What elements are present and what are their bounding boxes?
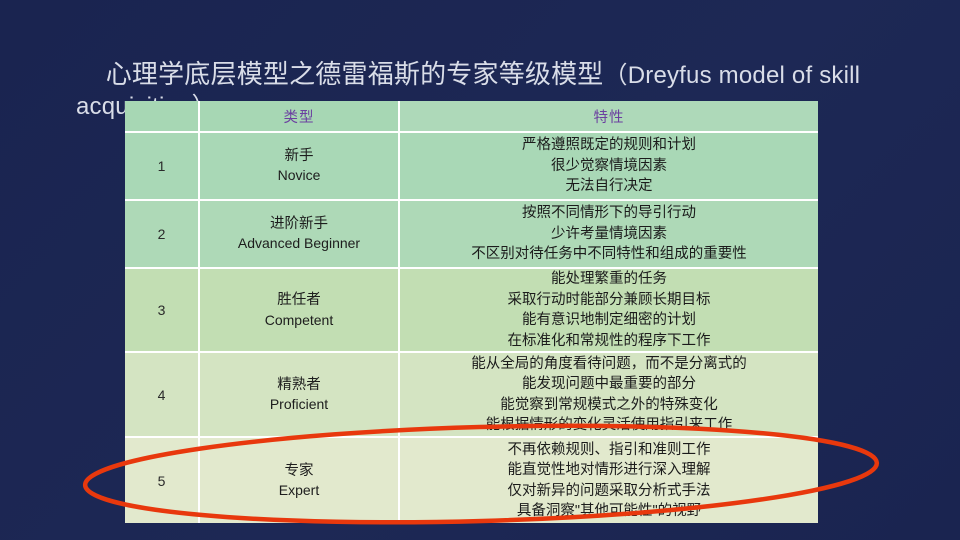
- row-index: 1: [125, 133, 200, 201]
- desc-line: 不再依赖规则、指引和准则工作: [400, 440, 818, 461]
- row-type-cn: 新手: [200, 146, 398, 167]
- row-type-en: Novice: [200, 166, 398, 186]
- row-index: 5: [125, 438, 200, 523]
- row-description: 严格遵照既定的规则和计划 很少觉察情境因素 无法自行决定: [400, 133, 818, 201]
- table-row: 5 专家 Expert 不再依赖规则、指引和准则工作 能直觉性地对情形进行深入理…: [125, 438, 818, 523]
- desc-line: 具备洞察"其他可能性"的视野: [400, 501, 818, 522]
- table-row: 3 胜任者 Competent 能处理繁重的任务 采取行动时能部分兼顾长期目标 …: [125, 269, 818, 353]
- desc-line: 严格遵照既定的规则和计划: [400, 135, 818, 156]
- row-type: 专家 Expert: [200, 438, 400, 523]
- desc-line: 能直觉性地对情形进行深入理解: [400, 460, 818, 481]
- desc-line: 仅对新异的问题采取分析式手法: [400, 481, 818, 502]
- header-cell-index: [125, 101, 200, 133]
- dreyfus-table-container: 类型 特性 1 新手 Novice 严格遵照既定的规则和计划 很少觉察情境因素 …: [125, 101, 818, 515]
- table-row: 4 精熟者 Proficient 能从全局的角度看待问题，而不是分离式的 能发现…: [125, 353, 818, 438]
- row-type-en: Proficient: [200, 395, 398, 415]
- row-type-en: Advanced Beginner: [200, 234, 398, 254]
- header-cell-type: 类型: [200, 101, 400, 133]
- row-type-cn: 专家: [200, 461, 398, 482]
- desc-line: 少许考量情境因素: [400, 224, 818, 245]
- desc-line: 不区别对待任务中不同特性和组成的重要性: [400, 244, 818, 265]
- dreyfus-table: 类型 特性 1 新手 Novice 严格遵照既定的规则和计划 很少觉察情境因素 …: [125, 101, 818, 523]
- desc-line: 能根据情形的变化灵活使用指引来工作: [400, 415, 818, 436]
- row-type: 新手 Novice: [200, 133, 400, 201]
- row-description: 能处理繁重的任务 采取行动时能部分兼顾长期目标 能有意识地制定细密的计划 在标准…: [400, 269, 818, 353]
- desc-line: 能觉察到常规模式之外的特殊变化: [400, 395, 818, 416]
- row-type-cn: 进阶新手: [200, 214, 398, 235]
- row-index: 2: [125, 201, 200, 269]
- row-description: 不再依赖规则、指引和准则工作 能直觉性地对情形进行深入理解 仅对新异的问题采取分…: [400, 438, 818, 523]
- desc-line: 能从全局的角度看待问题，而不是分离式的: [400, 354, 818, 375]
- desc-line: 在标准化和常规性的程序下工作: [400, 331, 818, 352]
- table-header-row: 类型 特性: [125, 101, 818, 133]
- desc-line: 按照不同情形下的导引行动: [400, 203, 818, 224]
- page-title-cjk: 心理学底层模型之德雷福斯的专家等级模型: [106, 59, 604, 89]
- desc-line: 能处理繁重的任务: [400, 269, 818, 290]
- desc-line: 很少觉察情境因素: [400, 156, 818, 177]
- table-row: 1 新手 Novice 严格遵照既定的规则和计划 很少觉察情境因素 无法自行决定: [125, 133, 818, 201]
- row-description: 能从全局的角度看待问题，而不是分离式的 能发现问题中最重要的部分 能觉察到常规模…: [400, 353, 818, 438]
- desc-line: 采取行动时能部分兼顾长期目标: [400, 290, 818, 311]
- row-type: 进阶新手 Advanced Beginner: [200, 201, 400, 269]
- header-cell-characteristics: 特性: [400, 101, 818, 133]
- row-type: 胜任者 Competent: [200, 269, 400, 353]
- desc-line: 无法自行决定: [400, 176, 818, 197]
- table-row: 2 进阶新手 Advanced Beginner 按照不同情形下的导引行动 少许…: [125, 201, 818, 269]
- row-type: 精熟者 Proficient: [200, 353, 400, 438]
- row-type-cn: 胜任者: [200, 290, 398, 311]
- row-index: 3: [125, 269, 200, 353]
- desc-line: 能有意识地制定细密的计划: [400, 310, 818, 331]
- row-description: 按照不同情形下的导引行动 少许考量情境因素 不区别对待任务中不同特性和组成的重要…: [400, 201, 818, 269]
- row-type-en: Expert: [200, 481, 398, 501]
- desc-line: 能发现问题中最重要的部分: [400, 374, 818, 395]
- row-type-cn: 精熟者: [200, 375, 398, 396]
- row-type-en: Competent: [200, 311, 398, 331]
- slide-canvas: 心理学底层模型之德雷福斯的专家等级模型（Dreyfus model of ski…: [0, 0, 960, 540]
- row-index: 4: [125, 353, 200, 438]
